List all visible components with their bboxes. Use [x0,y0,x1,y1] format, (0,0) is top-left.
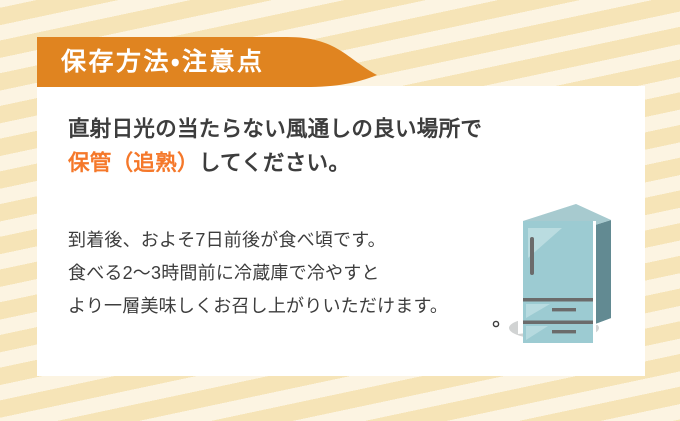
refrigerator-drawer-2-handle [552,330,576,333]
lead-line-2: 保管（追熟）してください。 [68,146,548,180]
poster-root: 保存方法・注意点 直射日光の当たらない風通しの良い場所で 保管（追熟）してくださ… [0,0,680,421]
refrigerator-divider-2 [523,321,595,325]
refrigerator-seam [593,221,596,344]
refrigerator-illustration [490,198,620,353]
lead-line-1: 直射日光の当たらない風通しの良い場所で [68,112,548,146]
refrigerator-drawer-1-handle [552,308,576,311]
lead-accent-text: 保管（追熟） [68,151,199,175]
lead-paragraph: 直射日光の当たらない風通しの良い場所で 保管（追熟）してください。 [68,112,548,180]
notes-line-1: 到着後、およそ7日前後が食べ頃です。 [68,224,538,257]
notes-line-2: 食べる2〜3時間前に冷蔵庫で冷やすと [68,257,538,290]
decorative-dot-icon [493,321,498,326]
refrigerator-door-handle [530,237,534,275]
notes-line-3: より一層美味しくお召し上がりいただけます。 [68,290,538,323]
refrigerator-icon [490,198,620,353]
banner-title: 保存方法・注意点 [61,37,265,87]
notes-paragraph: 到着後、およそ7日前後が食べ頃です。 食べる2〜3時間前に冷蔵庫で冷やすと より… [68,224,538,323]
lead-rest-text: してください。 [199,151,350,175]
section-banner: 保存方法・注意点 [37,37,377,87]
refrigerator-divider-1 [523,298,595,302]
